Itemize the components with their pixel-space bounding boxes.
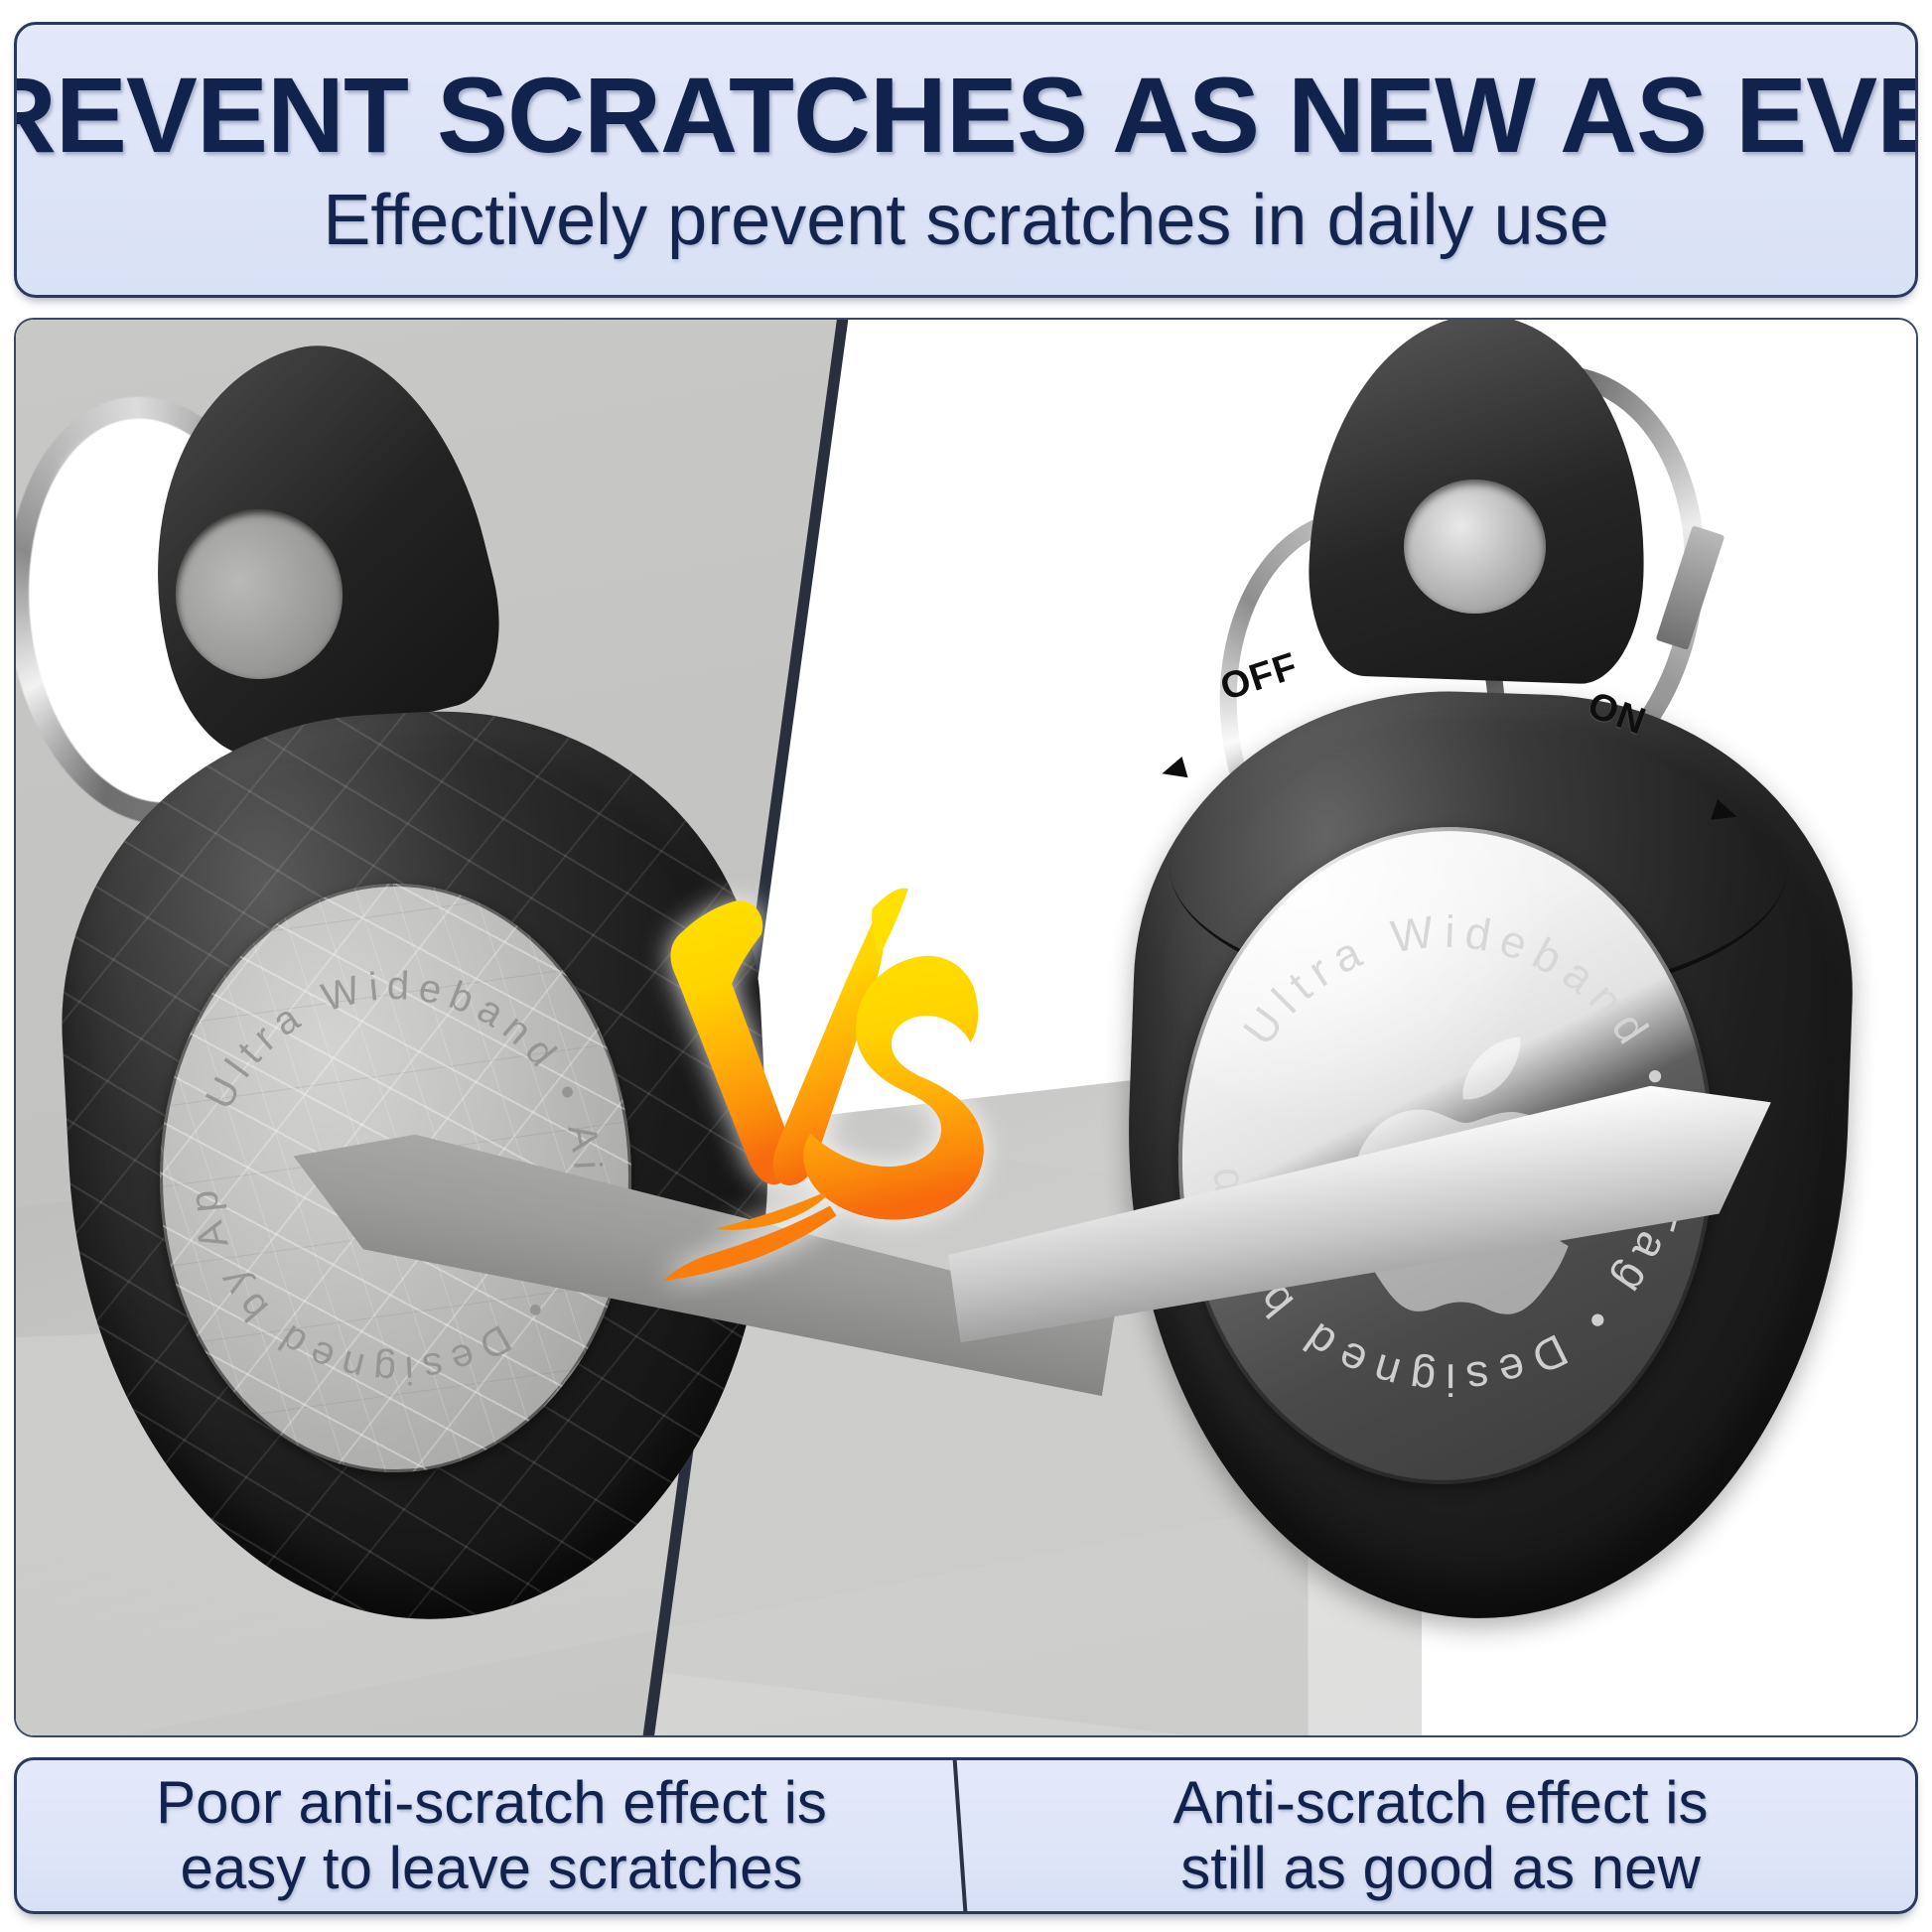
page-title: PREVENT SCRATCHES AS NEW AS EVER: [14, 61, 1918, 170]
caption-right-line2: still as good as new: [1180, 1835, 1701, 1901]
caption-left-line2: easy to leave scratches: [181, 1835, 803, 1901]
caption-bar: Poor anti-scratch effect is easy to leav…: [14, 1757, 1918, 1914]
header-banner: PREVENT SCRATCHES AS NEW AS EVER Effecti…: [14, 22, 1918, 298]
right-product-group: OFF ON: [1061, 462, 1897, 1679]
caption-left: Poor anti-scratch effect is easy to leav…: [17, 1760, 966, 1911]
caption-right-line1: Anti-scratch effect is: [1173, 1769, 1708, 1836]
caption-left-line1: Poor anti-scratch effect is: [156, 1769, 827, 1836]
comparison-photo-panel: Ultra Wideband • AirTag • Designed by Ap…: [14, 318, 1918, 1737]
page-subtitle: Effectively prevent scratches in daily u…: [323, 184, 1608, 259]
caption-right: Anti-scratch effect is still as good as …: [966, 1760, 1915, 1911]
vs-badge: [652, 886, 995, 1311]
product-comparison-page: PREVENT SCRATCHES AS NEW AS EVER Effecti…: [0, 0, 1932, 1932]
right-holder-loop-hole: [1404, 480, 1546, 614]
lock-arrow-left-icon: [1159, 757, 1187, 784]
